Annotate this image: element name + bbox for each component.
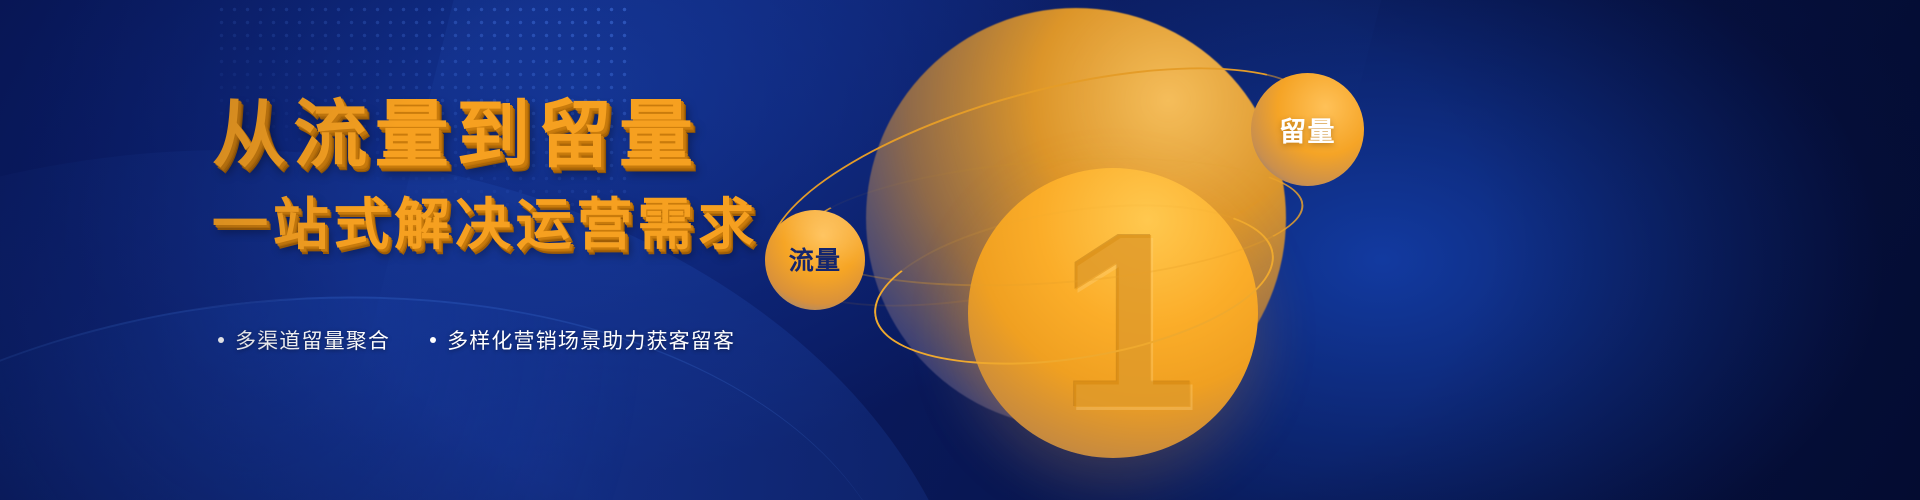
promo-banner: 从流量到留量 一站式解决运营需求 多渠道留量聚合 多样化营销场景助力获客留客 1… [0, 0, 1920, 500]
headline-primary: 从流量到留量 [212, 98, 932, 172]
bubble-retention: 留量 [1251, 73, 1364, 186]
headline-secondary: 一站式解决运营需求 [212, 197, 932, 253]
bullet-dot-icon [430, 337, 436, 343]
bullet-dot-icon [218, 337, 224, 343]
bullet-label: 多渠道留量聚合 [235, 325, 390, 355]
foreground-sphere [968, 168, 1258, 458]
bullet-label: 多样化营销场景助力获客留客 [447, 325, 735, 355]
list-item: 多渠道留量聚合 [218, 325, 390, 355]
list-item: 多样化营销场景助力获客留客 [430, 325, 735, 355]
numeral-one: 1 [1018, 176, 1238, 466]
feature-bullet-list: 多渠道留量聚合 多样化营销场景助力获客留客 [218, 325, 932, 355]
banner-copy-block: 从流量到留量 一站式解决运营需求 多渠道留量聚合 多样化营销场景助力获客留客 [212, 98, 932, 355]
bubble-retention-label: 留量 [1279, 110, 1336, 149]
